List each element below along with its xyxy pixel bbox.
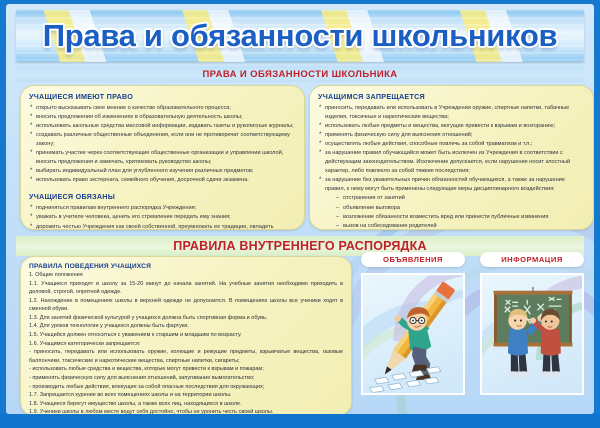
footer-bar — [0, 414, 600, 428]
list-item: отстранение от занятий — [336, 194, 585, 203]
heading-duties: УЧАЩИЕСЯ ОБЯЗАНЫ — [29, 192, 296, 201]
announcements-picture-frame — [361, 273, 465, 395]
rule-line: - приносить, передавать или использовать… — [29, 348, 343, 365]
list-item: вносить предложения об изменениях в обра… — [29, 113, 296, 122]
picture-cards-zone: ОБЪЯВЛЕНИЯ ИНФОРМАЦИЯ — [358, 252, 592, 414]
panel-prohibitions: УЧАЩИМСЯ ЗАПРЕЩАЕТСЯ приносить, передава… — [309, 85, 594, 230]
list-item: создавать различные общественные объедин… — [29, 131, 296, 149]
rule-line: 1.7. Запрещается курение во всех помещен… — [29, 391, 343, 400]
rule-line: 1.1. Учащиеся приходят в школу за 15-20 … — [29, 280, 343, 297]
section-header-rights-duties: ПРАВА И ОБЯЗАННОСТИ ШКОЛЬНИКА — [16, 66, 584, 82]
list-item: принимать участие через соответствующие … — [29, 149, 296, 167]
pencil-and-notes-illustration — [363, 275, 463, 393]
list-rights: открыто высказывать свое мнение о качест… — [29, 104, 296, 185]
list-item: возложение обязанности возместить вред и… — [336, 213, 585, 222]
list-item: использовать право экстерната, семейного… — [29, 176, 296, 185]
list-item: применять физическую силу для выяснения … — [318, 131, 585, 140]
list-item: использовать любые предметы и вещества, … — [318, 122, 585, 131]
list-item: использовать школьные средства массовой … — [29, 122, 296, 131]
list-item: осуществлять любые действия, способные п… — [318, 140, 585, 149]
list-item: объявление выговора — [336, 204, 585, 213]
list-item: приносить, передавать или использовать в… — [318, 104, 585, 122]
card-label-information: ИНФОРМАЦИЯ — [480, 252, 584, 267]
rule-line: 1.4. Для уроков технологии у учащихся до… — [29, 322, 343, 331]
list-item: выбирать индивидуальный план для углубле… — [29, 167, 296, 176]
list-forbidden: приносить, передавать или использовать в… — [318, 104, 585, 194]
chalkboard-pupils-illustration — [482, 275, 582, 393]
list-item: вызов на собеседование родителей — [336, 222, 585, 230]
heading-forbidden: УЧАЩИМСЯ ЗАПРЕЩАЕТСЯ — [318, 92, 585, 101]
heading-rights: УЧАЩИЕСЯ ИМЕЮТ ПРАВО — [29, 92, 296, 101]
title-banner: Права и обязанности школьников — [16, 10, 584, 62]
rule-line: 1.3. Для занятий физической культурой у … — [29, 314, 343, 323]
rule-line: - применять физическую силу для выяснени… — [29, 374, 343, 383]
panel-rights-and-duties: УЧАЩИЕСЯ ИМЕЮТ ПРАВО открыто высказывать… — [20, 85, 305, 230]
page-title: Права и обязанности школьников — [16, 20, 584, 51]
list-item: за нарушение без уважительных причин обя… — [318, 176, 585, 194]
rule-line: 1.6. Учащимся категорически запрещается: — [29, 340, 343, 349]
list-item: открыто высказывать свое мнение о качест… — [29, 104, 296, 113]
list-duties: подчиняться правилам внутреннего распоря… — [29, 204, 296, 230]
rule-line: - использовать любые средства и вещества… — [29, 365, 343, 374]
rule-line: 1.8. Учащиеся берегут имущество школы, а… — [29, 400, 343, 409]
list-item: уважать в учителе человека, ценить его с… — [29, 213, 296, 222]
heading-conduct-rules: ПРАВИЛА ПОВЕДЕНИЯ УЧАЩИХСЯ — [29, 263, 343, 270]
card-label-announcements: ОБЪЯВЛЕНИЯ — [361, 252, 465, 267]
information-picture-frame — [480, 273, 584, 395]
school-info-poster: Права и обязанности школьников ПРАВА И О… — [0, 0, 600, 428]
list-item: подчиняться правилам внутреннего распоря… — [29, 204, 296, 213]
rule-line: 1.2. Нахождение в помещениях школы в вер… — [29, 297, 343, 314]
rule-line: - производить любые действия, влекущие з… — [29, 383, 343, 392]
rule-line: 1. Общие положения — [29, 271, 343, 280]
panel-student-conduct-rules: ПРАВИЛА ПОВЕДЕНИЯ УЧАЩИХСЯ 1. Общие поло… — [20, 256, 352, 414]
list-disciplinary-measures: отстранение от занятий объявление выгово… — [336, 194, 585, 230]
poster-inner-frame: Права и обязанности школьников ПРАВА И О… — [6, 4, 594, 414]
rule-line: 1.5. Учащийся должен относиться с уважен… — [29, 331, 343, 340]
list-item: за нарушение правил обучающийся может бы… — [318, 149, 585, 176]
list-item: дорожить честью Учреждения как своей соб… — [29, 223, 296, 230]
